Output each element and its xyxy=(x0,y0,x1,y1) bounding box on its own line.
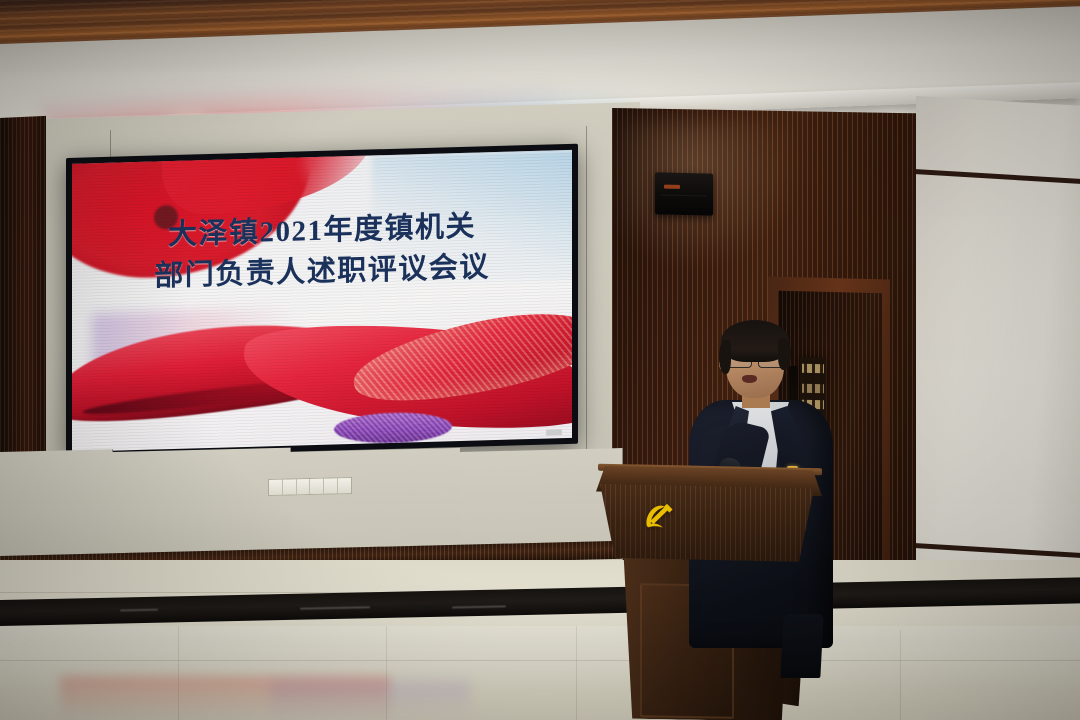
floor-tile-vline-4 xyxy=(900,630,901,720)
floor-purple-reflection xyxy=(270,680,470,720)
floor-tile-line-2 xyxy=(0,660,1080,661)
person-mouth xyxy=(742,375,757,383)
screen-red-shape-top xyxy=(162,150,372,215)
wall-speaker xyxy=(655,172,713,215)
screen-title-block: 大泽镇2021年度镇机关 部门负责人述职评议会议 xyxy=(72,204,572,300)
wall-outlet-group[interactable] xyxy=(268,477,352,496)
outlet-6[interactable] xyxy=(338,478,351,493)
outlet-4[interactable] xyxy=(310,479,324,494)
outlet-5[interactable] xyxy=(324,478,338,493)
outlet-2[interactable] xyxy=(283,479,297,494)
led-screen-display: 大泽镇2021年度镇机关 部门负责人述职评议会议 xyxy=(72,150,572,452)
speaker-label xyxy=(664,185,680,189)
outlet-3[interactable] xyxy=(297,479,311,494)
screen-sensor-strip xyxy=(546,429,562,435)
floor-tile-vline-3 xyxy=(576,626,577,720)
conference-room-photo: 大泽镇2021年度镇机关 部门负责人述职评议会议 xyxy=(0,0,1080,720)
person-hair-side-right xyxy=(778,338,791,370)
person-hair-side-left xyxy=(719,340,731,374)
lower-wall-panel-2 xyxy=(112,448,291,564)
outlet-1[interactable] xyxy=(269,480,283,495)
wall-panel-seam-2 xyxy=(586,126,587,466)
lower-wall-panel-1 xyxy=(0,449,113,564)
cpc-hammer-sickle-emblem xyxy=(637,498,681,539)
led-screen-bezel: 大泽镇2021年度镇机关 部门负责人述职评议会议 xyxy=(66,144,578,458)
screen-purple-blob xyxy=(334,411,452,444)
person-trousers xyxy=(780,614,823,678)
podium-front-face xyxy=(600,484,814,562)
